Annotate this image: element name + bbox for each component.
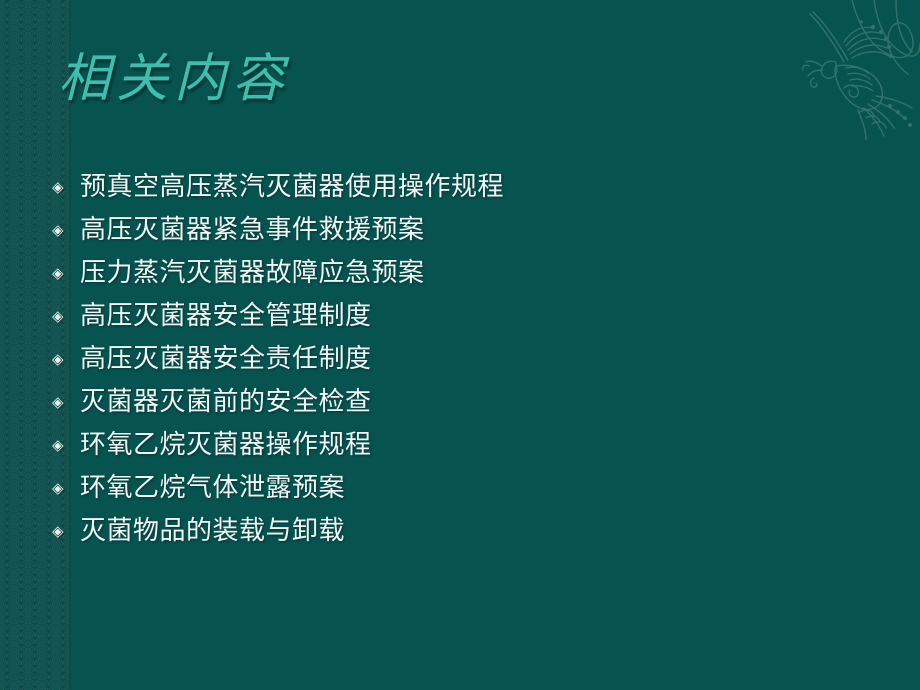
diamond-bullet-icon: ◈ [52,438,80,453]
diamond-bullet-icon: ◈ [52,395,80,410]
list-item[interactable]: ◈ 灭菌物品的装载与卸载 [52,510,852,553]
list-item-label: 灭菌物品的装载与卸载 [80,517,852,546]
list-item-label: 高压灭菌器安全管理制度 [80,302,852,331]
list-item[interactable]: ◈ 环氧乙烷气体泄露预案 [52,467,852,510]
diamond-bullet-icon: ◈ [52,266,80,281]
presentation-slide: 相关内容 ◈ 预真空高压蒸汽灭菌器使用操作规程 ◈ 高压灭菌器紧急事件救援预案 … [0,0,920,690]
list-item-label: 高压灭菌器紧急事件救援预案 [80,216,852,245]
list-item[interactable]: ◈ 压力蒸汽灭菌器故障应急预案 [52,252,852,295]
diamond-bullet-icon: ◈ [52,309,80,324]
diamond-bullet-icon: ◈ [52,180,80,195]
content-bullet-list: ◈ 预真空高压蒸汽灭菌器使用操作规程 ◈ 高压灭菌器紧急事件救援预案 ◈ 压力蒸… [52,166,852,553]
list-item-label: 灭菌器灭菌前的安全检查 [80,388,852,417]
list-item[interactable]: ◈ 高压灭菌器紧急事件救援预案 [52,209,852,252]
list-item[interactable]: ◈ 环氧乙烷灭菌器操作规程 [52,424,852,467]
list-item-label: 预真空高压蒸汽灭菌器使用操作规程 [80,173,852,202]
diamond-bullet-icon: ◈ [52,524,80,539]
page-title: 相关内容 [58,52,290,107]
diamond-bullet-icon: ◈ [52,481,80,496]
list-item-label: 环氧乙烷气体泄露预案 [80,474,852,503]
list-item[interactable]: ◈ 高压灭菌器安全责任制度 [52,338,852,381]
list-item-label: 高压灭菌器安全责任制度 [80,345,852,374]
list-item[interactable]: ◈ 高压灭菌器安全管理制度 [52,295,852,338]
list-item[interactable]: ◈ 灭菌器灭菌前的安全检查 [52,381,852,424]
list-item-label: 压力蒸汽灭菌器故障应急预案 [80,259,852,288]
list-item-label: 环氧乙烷灭菌器操作规程 [80,431,852,460]
diamond-bullet-icon: ◈ [52,352,80,367]
diamond-bullet-icon: ◈ [52,223,80,238]
list-item[interactable]: ◈ 预真空高压蒸汽灭菌器使用操作规程 [52,166,852,209]
